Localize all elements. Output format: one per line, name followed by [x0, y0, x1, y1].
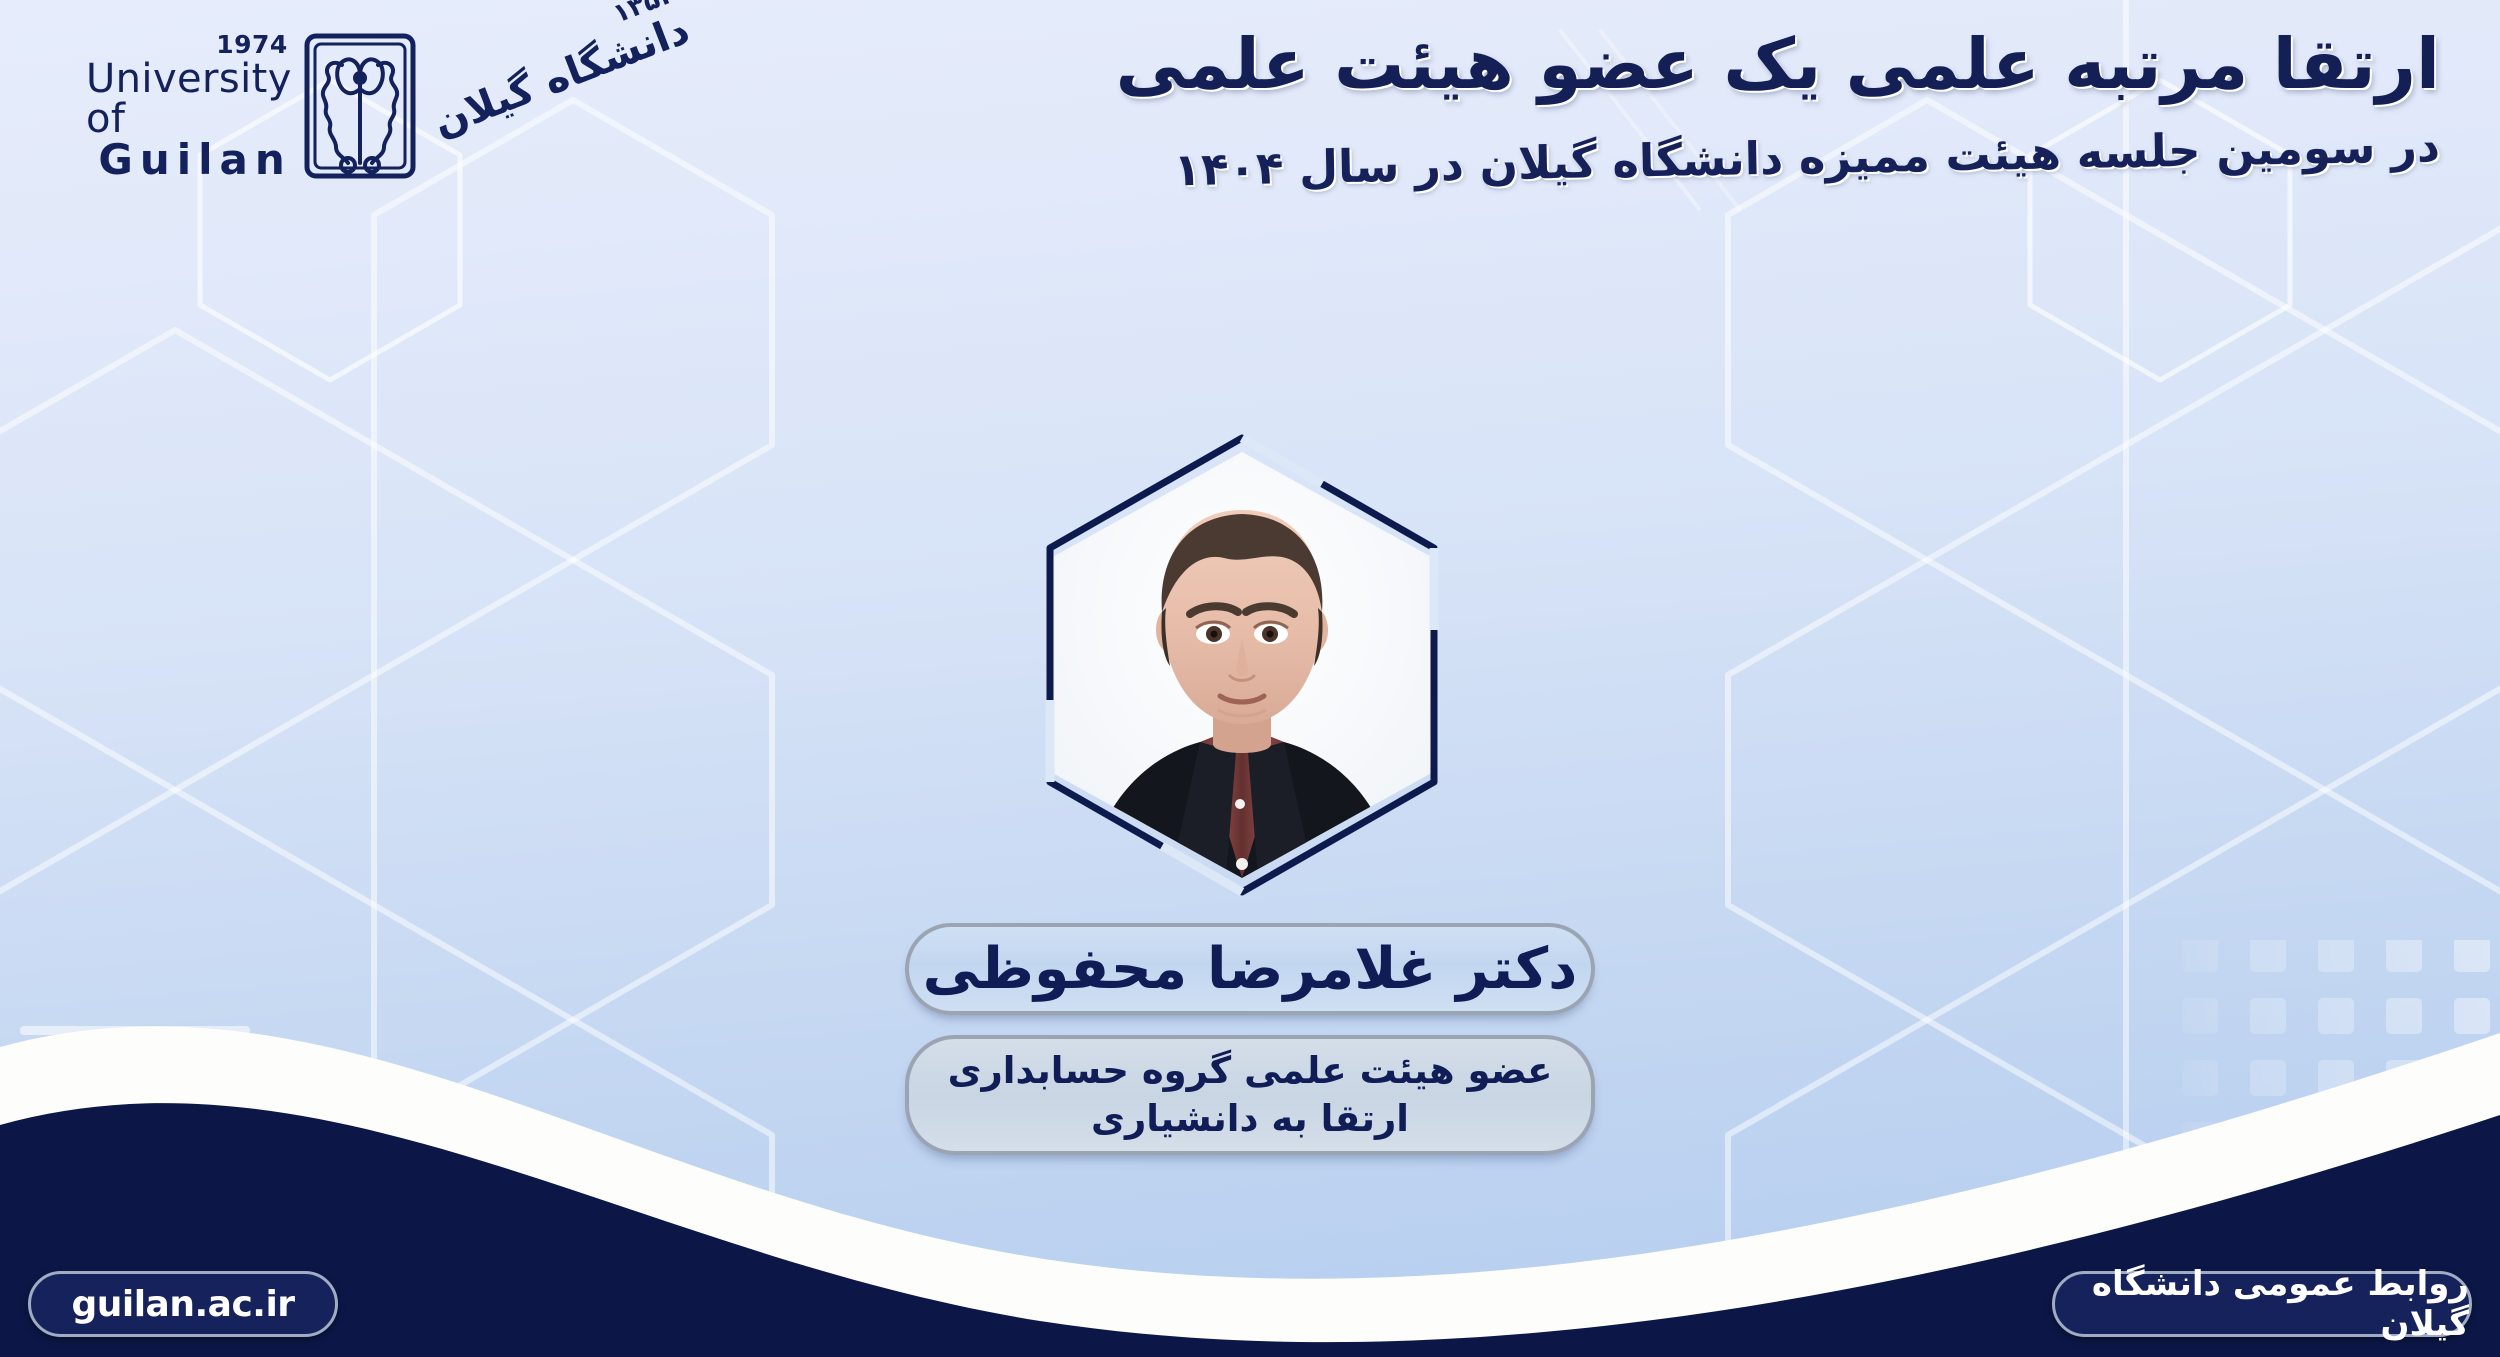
logo-guilan-word: Guilan [98, 139, 291, 181]
logo-founding-year-en: 1974 [216, 32, 288, 57]
public-relations-pill[interactable]: روابط عمومی دانشگاه گیلان [2052, 1271, 2472, 1337]
logo-university-name-fa: دانشگاه گیلان [427, 7, 695, 147]
logo-university-word: University of [86, 59, 292, 139]
page-subtitle: در سومین جلسه هیئت ممیزه دانشگاه گیلان د… [880, 119, 2441, 203]
public-relations-label: روابط عمومی دانشگاه گیلان [2055, 1264, 2469, 1344]
hexagon-frame-icon [1022, 430, 1462, 900]
page-title: ارتقا مرتبه علمی یک عضو هیئت علمی [880, 24, 2440, 105]
logo-persian-text: ۱۳۵۳ دانشگاه گیلان [416, 0, 695, 146]
guilan-emblem-icon [302, 31, 418, 185]
website-pill[interactable]: guilan.ac.ir [28, 1271, 338, 1337]
portrait-container [1022, 430, 1462, 900]
university-logo: 1974 University of Guilan ۱۳۵۳ دانشگاه گ… [86, 28, 556, 188]
headline-block: ارتقا مرتبه علمی یک عضو هیئت علمی در سوم… [880, 24, 2440, 173]
promotion-announcement-poster: 1974 University of Guilan ۱۳۵۳ دانشگاه گ… [0, 0, 2500, 1357]
website-url: guilan.ac.ir [71, 1284, 294, 1325]
logo-english-text: 1974 University of Guilan [86, 32, 292, 185]
